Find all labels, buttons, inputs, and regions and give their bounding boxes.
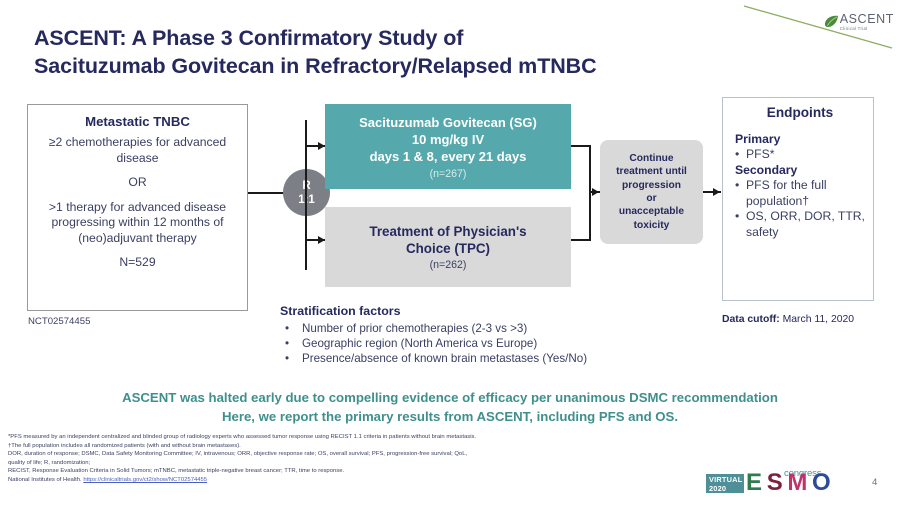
stratification-item: • Number of prior chemotherapies (2-3 vs… — [280, 321, 690, 336]
continuation-line-3: progression — [616, 179, 687, 192]
continuation-line-1: Continue — [616, 152, 687, 165]
continuation-text: Continue treatment until progression or … — [616, 152, 687, 232]
population-connector: OR — [36, 175, 239, 191]
footnotes: *PFS measured by an independent centrali… — [8, 433, 708, 485]
arm-control-line-1: Treatment of Physician's — [369, 223, 526, 240]
esmo-letter-e: E — [746, 469, 761, 496]
connector-population-to-randomization — [248, 192, 286, 194]
arrowhead-endpoints — [713, 188, 720, 196]
spacer — [36, 191, 239, 200]
data-cutoff: Data cutoff: March 11, 2020 — [722, 314, 854, 325]
population-criteria-2: >1 therapy for advanced disease progress… — [36, 200, 239, 247]
arm-control-count: (n=262) — [430, 259, 467, 271]
page-title: ASCENT: A Phase 3 Confirmatory Study of … — [34, 24, 694, 80]
esmo-letter-o: O — [812, 469, 830, 496]
arm-experimental-line-1: Sacituzumab Govitecan (SG) — [359, 114, 537, 131]
esmo-letter-s: S — [767, 469, 782, 496]
bullet-icon: • — [735, 209, 746, 240]
population-heading: Metastatic TNBC — [36, 114, 239, 129]
stratification-item-text: Geographic region (North America vs Euro… — [302, 336, 537, 351]
spacer — [36, 246, 239, 255]
continuation-box: Continue treatment until progression or … — [600, 140, 703, 244]
endpoints-box: Endpoints Primary • PFS* Secondary • PFS… — [722, 97, 874, 301]
treatment-arm-control: Treatment of Physician's Choice (TPC) (n… — [325, 207, 571, 287]
endpoints-secondary-item: • OS, ORR, DOR, TTR, safety — [735, 209, 865, 240]
endpoints-secondary-item: • PFS for the full population† — [735, 178, 865, 209]
bullet-icon: • — [280, 351, 302, 366]
logo-mark: ASCENT Clinical Trial — [824, 13, 894, 32]
population-criteria-1: ≥2 chemotherapies for advanced disease — [36, 135, 239, 166]
spacer — [36, 166, 239, 175]
leaf-icon — [824, 15, 839, 28]
virtual-year: 2020 — [709, 484, 741, 493]
continuation-line-6: toxicity — [616, 219, 687, 232]
logo-name: ASCENT — [840, 13, 894, 25]
footnote-source-prefix: National Institutes of Health. — [8, 477, 83, 483]
data-cutoff-value: March 11, 2020 — [783, 314, 854, 325]
conclusion-statement: ASCENT was halted early due to compellin… — [0, 388, 900, 426]
stratification-heading: Stratification factors — [280, 304, 690, 318]
logo-text: ASCENT Clinical Trial — [840, 13, 894, 32]
connector-merge-bottom — [571, 239, 591, 241]
clinicaltrials-link[interactable]: https://clinicaltrials.gov/ct2/show/NCT0… — [83, 477, 207, 483]
bullet-icon: • — [280, 336, 302, 351]
connector-merge-top — [571, 145, 591, 147]
arrowhead-continuation — [592, 188, 599, 196]
footnote-abbrev-3: RECIST, Response Evaluation Criteria in … — [8, 467, 708, 476]
registry-id: NCT02574455 — [28, 316, 90, 327]
bullet-icon: • — [280, 321, 302, 336]
arm-experimental-line-2: 10 mg/kg IV — [412, 131, 484, 148]
conclusion-line-1: ASCENT was halted early due to compellin… — [0, 388, 900, 407]
endpoints-primary-label: Primary — [735, 131, 865, 147]
footnote-source: National Institutes of Health. https://c… — [8, 476, 708, 485]
bullet-icon: • — [735, 147, 746, 162]
slide-canvas: ASCENT Clinical Trial ASCENT: A Phase 3 … — [0, 0, 900, 506]
connector-merge-vertical — [589, 145, 591, 241]
stratification-item-text: Number of prior chemotherapies (2-3 vs >… — [302, 321, 527, 336]
esmo-congress-logo: VIRTUAL 2020 congress E S M O — [706, 468, 836, 498]
arm-experimental-line-3: days 1 & 8, every 21 days — [370, 148, 527, 165]
conclusion-line-2: Here, we report the primary results from… — [0, 407, 900, 426]
arm-control-line-2: Choice (TPC) — [406, 240, 490, 257]
endpoints-secondary-label: Secondary — [735, 162, 865, 178]
bullet-icon: • — [735, 178, 746, 209]
virtual-2020-badge: VIRTUAL 2020 — [706, 474, 744, 493]
page-number: 4 — [872, 477, 877, 488]
continuation-line-5: unacceptable — [616, 205, 687, 218]
population-total: N=529 — [36, 255, 239, 271]
endpoints-secondary-item-text: PFS for the full population† — [746, 178, 865, 209]
stratification-item: • Geographic region (North America vs Eu… — [280, 336, 690, 351]
endpoints-secondary-item-text: OS, ORR, DOR, TTR, safety — [746, 209, 865, 240]
footnote-asterisk: *PFS measured by an independent centrali… — [8, 433, 708, 442]
stratification-item-text: Presence/absence of known brain metastas… — [302, 351, 587, 366]
continuation-line-2: treatment until — [616, 165, 687, 178]
stratification-section: Stratification factors • Number of prior… — [280, 304, 690, 367]
footnote-abbrev-2: quality of life; R, randomization; — [8, 459, 708, 468]
arrowhead-experimental — [318, 142, 325, 150]
stratification-item: • Presence/absence of known brain metast… — [280, 351, 690, 366]
treatment-arm-experimental: Sacituzumab Govitecan (SG) 10 mg/kg IV d… — [325, 104, 571, 189]
endpoints-primary-item: • PFS* — [735, 147, 865, 162]
logo-subtitle: Clinical Trial — [840, 26, 894, 32]
footnote-dagger: †The full population includes all random… — [8, 442, 708, 451]
page-title-line-1: ASCENT: A Phase 3 Confirmatory Study of — [34, 26, 463, 50]
esmo-wordmark: E S M O — [746, 470, 830, 496]
endpoints-primary-item-text: PFS* — [746, 147, 774, 162]
footnote-abbrev-1: DOR, duration of response; DSMC, Data Sa… — [8, 450, 708, 459]
connector-randomization-stem — [305, 120, 307, 270]
population-box: Metastatic TNBC ≥2 chemotherapies for ad… — [27, 104, 248, 311]
page-title-line-2: Sacituzumab Govitecan in Refractory/Rela… — [34, 52, 694, 80]
ascent-logo: ASCENT Clinical Trial — [742, 4, 900, 50]
endpoints-heading: Endpoints — [735, 105, 865, 120]
continuation-line-4: or — [616, 192, 687, 205]
virtual-label: VIRTUAL — [709, 475, 741, 484]
arrowhead-control — [318, 236, 325, 244]
arm-experimental-count: (n=267) — [430, 168, 467, 180]
esmo-letter-m: M — [787, 469, 806, 496]
data-cutoff-label: Data cutoff: — [722, 314, 780, 325]
